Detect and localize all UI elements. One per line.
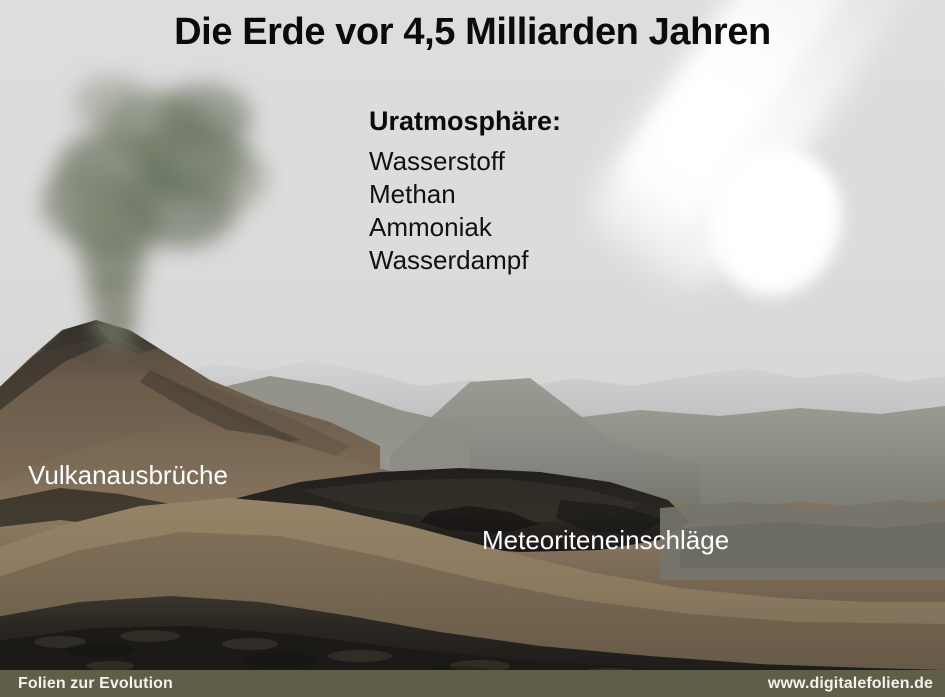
page-title: Die Erde vor 4,5 Milliarden Jahren xyxy=(0,11,945,54)
footer-series-title: Folien zur Evolution xyxy=(18,675,173,693)
atmosphere-heading: Uratmosphäre: xyxy=(369,104,669,138)
label-volcanic-eruptions: Vulkanausbrüche xyxy=(28,460,228,491)
list-item: Ammoniak xyxy=(369,211,669,244)
slide-canvas: Die Erde vor 4,5 Milliarden Jahren Uratm… xyxy=(0,0,945,697)
list-item: Methan xyxy=(369,178,669,211)
footer-bar: Folien zur Evolution www.digitalefolien.… xyxy=(0,670,945,697)
footer-website-url[interactable]: www.digitalefolien.de xyxy=(768,675,933,693)
label-meteorite-impacts: Meteoriteneinschläge xyxy=(482,525,729,556)
list-item: Wasserdampf xyxy=(369,244,669,277)
list-item: Wasserstoff xyxy=(369,145,669,178)
atmosphere-block: Uratmosphäre: Wasserstoff Methan Ammonia… xyxy=(369,104,669,277)
